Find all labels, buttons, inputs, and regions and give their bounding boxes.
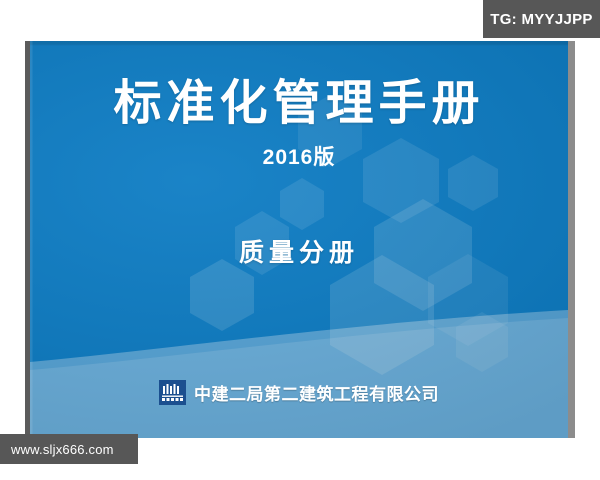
site-url-watermark: www.sljx666.com (0, 434, 138, 464)
cscec-logo-icon (159, 380, 186, 405)
main-title: 标准化管理手册 (30, 41, 568, 131)
tg-watermark-tag: TG: MYYJJPP (483, 0, 600, 38)
subtitle: 质量分册 (30, 233, 568, 269)
edition-label: 2016版 (30, 131, 568, 171)
cover-right-edge (568, 41, 575, 438)
company-name: 中建二局第二建筑工程有限公司 (194, 380, 439, 405)
company-footer: 中建二局第二建筑工程有限公司 (30, 380, 568, 405)
document-cover-sheet: 标准化管理手册 2016版 质量分册 (25, 41, 575, 438)
title-block: 标准化管理手册 2016版 (30, 41, 568, 171)
bottom-curved-band (30, 308, 568, 438)
cover-page: 标准化管理手册 2016版 质量分册 (30, 41, 568, 438)
